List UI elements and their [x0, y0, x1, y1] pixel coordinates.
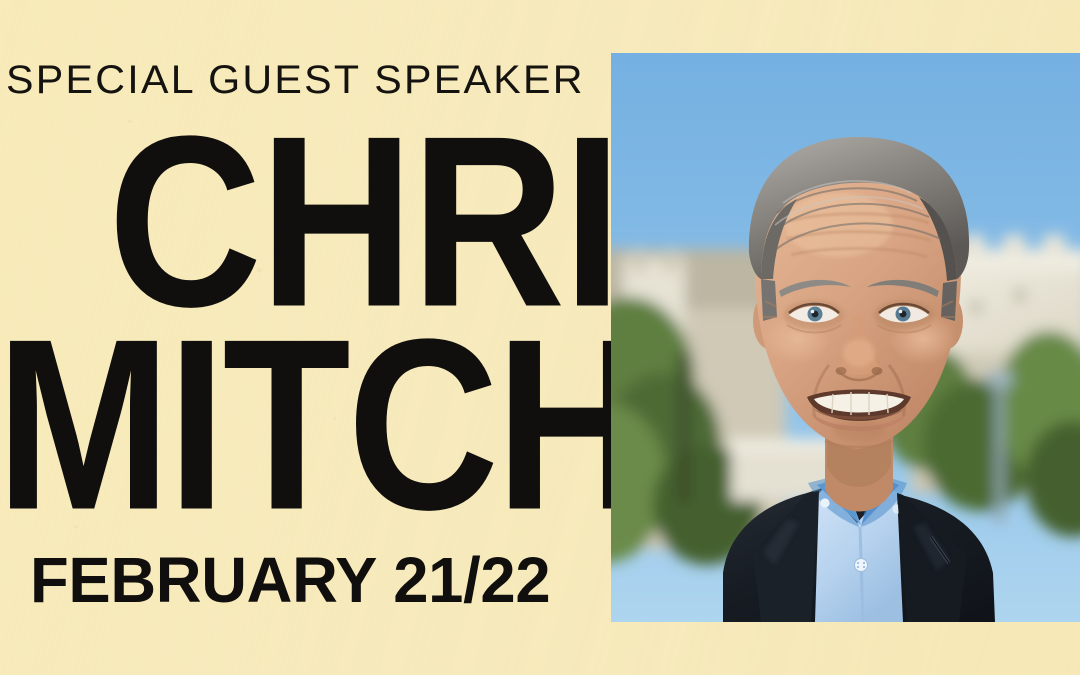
speaker-portrait-photo: [611, 53, 1080, 622]
promo-poster: SPECIAL GUEST SPEAKER CHRIS MITCHELL FEB…: [0, 0, 1080, 675]
portrait-illustration: [611, 53, 1080, 622]
event-date: FEBRUARY 21/22: [30, 548, 550, 612]
text-column: SPECIAL GUEST SPEAKER CHRIS MITCHELL FEB…: [0, 0, 600, 675]
